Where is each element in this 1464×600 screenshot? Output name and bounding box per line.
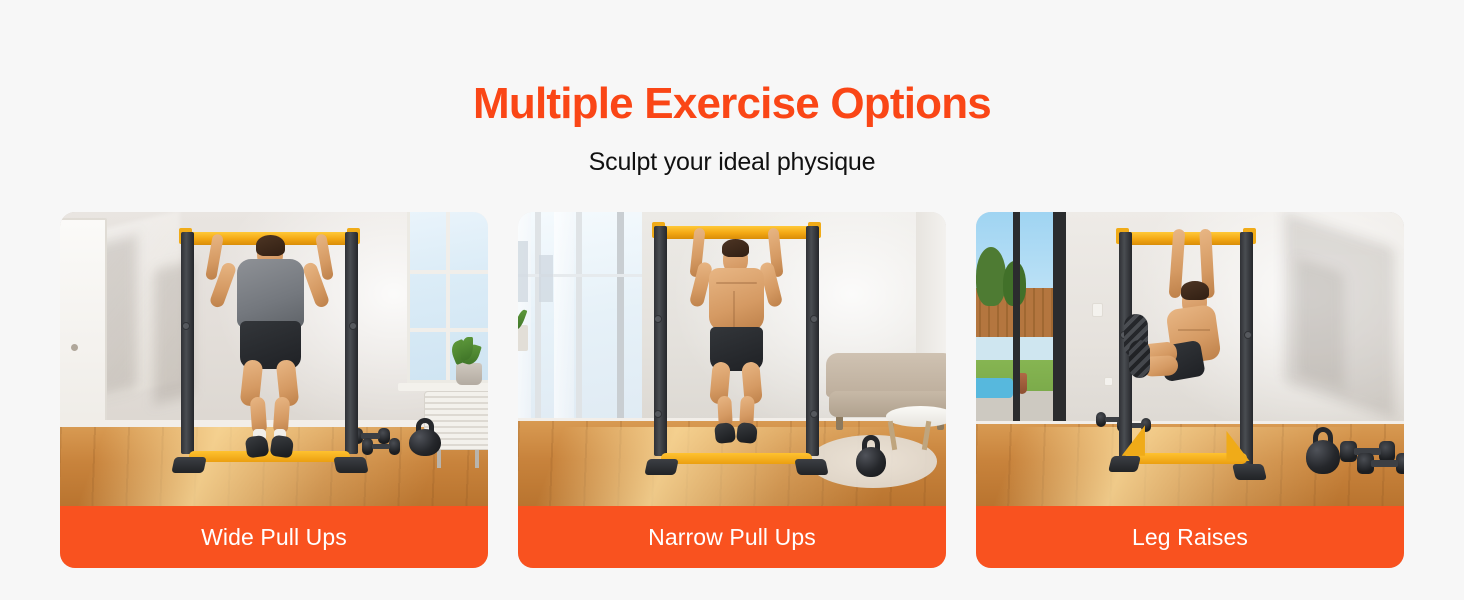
exercise-card-leg-raises[interactable]: Leg Raises: [976, 212, 1404, 568]
wall-outlet: [1092, 303, 1103, 317]
glass-sliding-door[interactable]: [976, 212, 1066, 441]
page-title: Multiple Exercise Options: [0, 82, 1464, 126]
dumbbell: [1357, 453, 1404, 474]
page-subtitle: Sculpt your ideal physique: [0, 148, 1464, 177]
exercise-caption-wide-pull-ups: Wide Pull Ups: [60, 506, 488, 568]
exercise-card-row: Wide Pull Ups: [60, 212, 1404, 568]
exercise-photo-leg-raises: [976, 212, 1404, 506]
exercise-photo-narrow-pull-ups: [518, 212, 946, 506]
kettlebell: [409, 418, 441, 456]
door-knob-icon: [71, 344, 78, 351]
coffee-table: [886, 406, 946, 427]
exercise-card-narrow-pull-ups[interactable]: Narrow Pull Ups: [518, 212, 946, 568]
athlete-figure: [676, 224, 796, 447]
exercise-caption-narrow-pull-ups: Narrow Pull Ups: [518, 506, 946, 568]
athlete-figure: [201, 230, 338, 459]
kettlebell: [856, 435, 886, 476]
athlete-figure: [1130, 227, 1276, 409]
exercise-photo-wide-pull-ups: [60, 212, 488, 506]
exercise-card-wide-pull-ups[interactable]: Wide Pull Ups: [60, 212, 488, 568]
floor-to-ceiling-window: [518, 212, 642, 438]
header: Multiple Exercise Options Sculpt your id…: [0, 0, 1464, 177]
door: [60, 218, 107, 436]
promo-banner: Multiple Exercise Options Sculpt your id…: [0, 0, 1464, 600]
exercise-caption-leg-raises: Leg Raises: [976, 506, 1404, 568]
kettlebell: [1306, 427, 1340, 474]
plant-pot: [456, 363, 482, 385]
